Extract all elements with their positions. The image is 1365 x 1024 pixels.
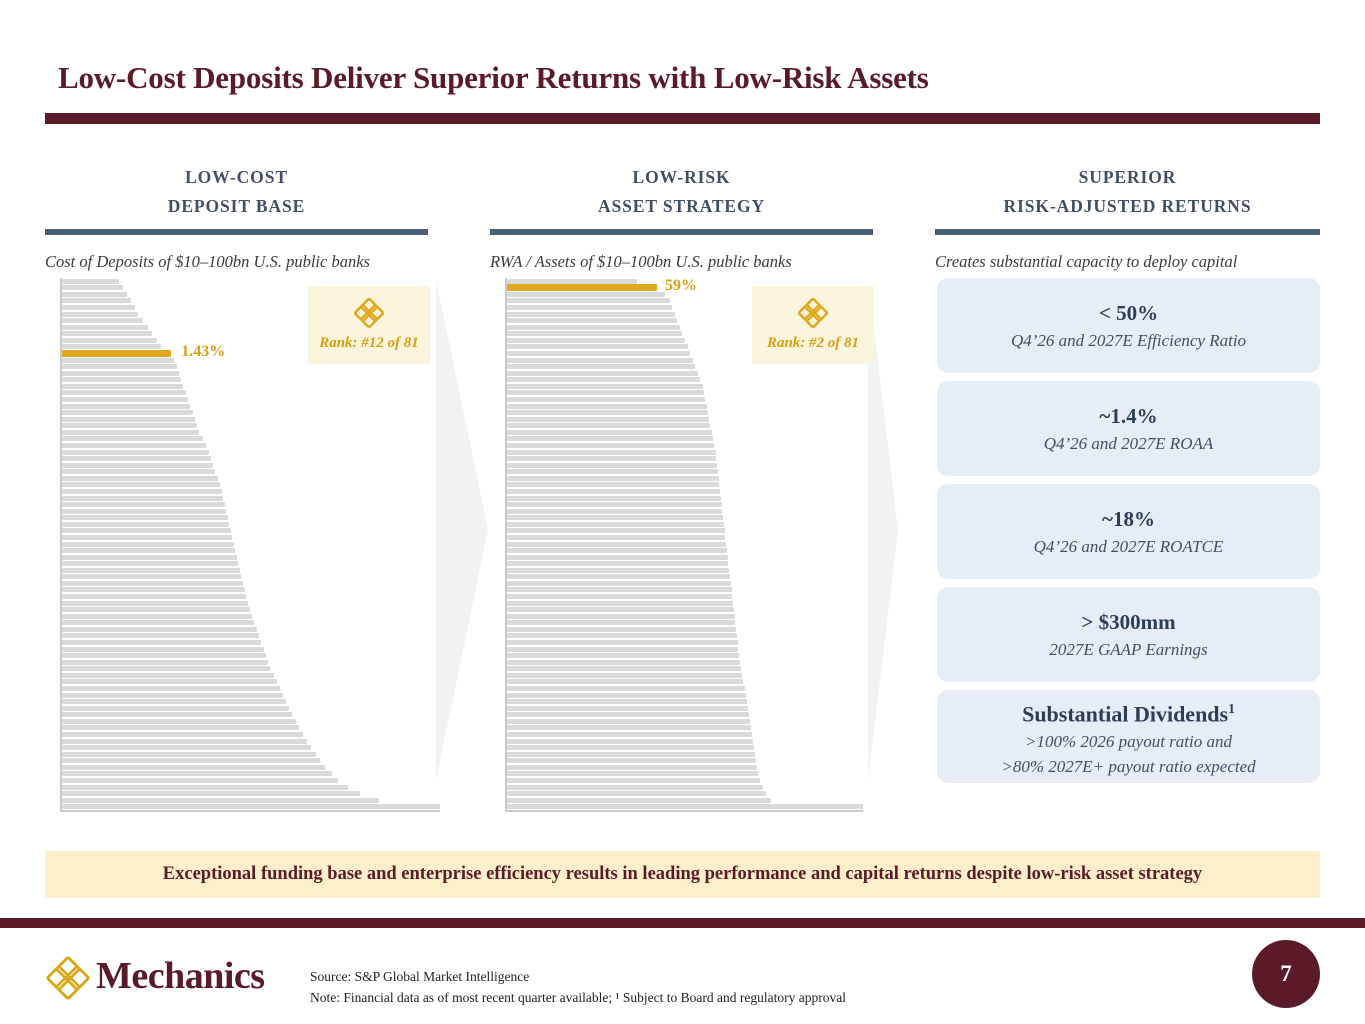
- chart-bar: [62, 358, 174, 363]
- chart-bar: [507, 745, 754, 750]
- metric-card-gaap-earnings: > $300mm 2027E GAAP Earnings: [937, 587, 1320, 682]
- chart-bar: [62, 739, 307, 744]
- chart-bar: [507, 666, 741, 671]
- chart-bar: [507, 607, 734, 612]
- column-divider: [490, 229, 873, 235]
- column-subtitle: Creates substantial capacity to deploy c…: [935, 252, 1320, 272]
- chart-bar: [507, 377, 700, 382]
- chart-bar: [507, 417, 709, 422]
- metric-value-text: Substantial Dividends: [1022, 701, 1228, 726]
- chart-bar: [62, 601, 248, 606]
- chart-bar: [62, 745, 311, 750]
- brand-wordmark: Mechanics: [96, 954, 265, 998]
- chart-bar: [507, 581, 731, 586]
- chart-bar: [62, 496, 223, 501]
- chart-bar-highlighted: [62, 350, 171, 357]
- chart-bar: [507, 443, 714, 448]
- chart-bar: [507, 712, 749, 717]
- metric-description: 2027E GAAP Earnings: [949, 637, 1308, 662]
- chart-bar: [62, 542, 234, 547]
- chart-bar: [507, 574, 730, 579]
- chart-bar: [507, 568, 729, 573]
- chart-bar: [507, 627, 736, 632]
- page-title: Low-Cost Deposits Deliver Superior Retur…: [58, 60, 929, 96]
- chart-bar: [62, 725, 299, 730]
- chart-bar: [62, 305, 135, 310]
- chart-bar: [507, 364, 695, 369]
- metric-card-roaa: ~1.4% Q4’26 and 2027E ROAA: [937, 381, 1320, 476]
- chart-bar: [507, 719, 750, 724]
- chevron-right-icon-1: [436, 280, 494, 780]
- chart-bar: [507, 351, 690, 356]
- chart-bar: [62, 686, 280, 691]
- chart-bar: [507, 785, 763, 790]
- chart-bar: [62, 581, 243, 586]
- chart-bar: [62, 791, 360, 796]
- chart-bar: [507, 587, 732, 592]
- chart-bar: [62, 666, 270, 671]
- chart-bar: [507, 673, 742, 678]
- page-number-badge: 7: [1252, 940, 1320, 1008]
- chart-bar: [62, 587, 245, 592]
- chart-bar: [62, 568, 240, 573]
- footnote-marker: 1: [1228, 701, 1235, 716]
- chart-bar: [62, 758, 320, 763]
- mechanics-knot-icon: [45, 955, 91, 1001]
- chart-bar: [62, 594, 246, 599]
- chart-bar: [62, 377, 181, 382]
- chart-bar: [62, 706, 289, 711]
- chart-bar: [507, 614, 735, 619]
- metric-value: ~18%: [949, 504, 1308, 534]
- chart-bar: [507, 679, 743, 684]
- chart-bar: [507, 397, 705, 402]
- chart-bar: [62, 785, 348, 790]
- chart-highlight-label: 59%: [665, 277, 697, 295]
- chart-bar: [62, 338, 157, 343]
- footer-divider: [0, 918, 1365, 928]
- chart-bar: [62, 450, 209, 455]
- chart-bar: [62, 312, 138, 317]
- chart-bar: [62, 482, 220, 487]
- column-divider: [45, 229, 428, 235]
- metric-description-line2: >80% 2027E+ payout ratio expected: [949, 754, 1308, 779]
- chart-bar: [62, 522, 229, 527]
- metric-value: > $300mm: [949, 607, 1308, 637]
- chart-bar: [507, 535, 725, 540]
- chart-bar: [62, 804, 440, 809]
- chart-bar: [507, 436, 713, 441]
- chart-bar: [62, 574, 241, 579]
- chart-bar: [62, 548, 235, 553]
- metric-description: Q4’26 and 2027E ROAA: [949, 431, 1308, 456]
- chart-bar: [507, 463, 717, 468]
- chart-bar: [62, 298, 131, 303]
- chart-bar: [507, 331, 682, 336]
- chart-bar: [507, 594, 732, 599]
- chart-bar: [507, 502, 722, 507]
- chart-bar: [507, 292, 665, 297]
- chart-bar: [507, 482, 719, 487]
- mechanics-knot-icon: [796, 296, 830, 330]
- metric-value: ~1.4%: [949, 401, 1308, 431]
- column-header-low-risk: LOW-RISK ASSET STRATEGY RWA / Assets of …: [490, 163, 873, 272]
- chart-bar: [62, 469, 215, 474]
- summary-banner: Exceptional funding base and enterprise …: [45, 851, 1320, 898]
- chart-bar: [62, 331, 152, 336]
- chart-bar: [62, 607, 250, 612]
- chart-bar: [62, 535, 232, 540]
- chart-bar: [507, 318, 677, 323]
- chart-bar: [507, 384, 703, 389]
- chart-highlight-label: 1.43%: [181, 343, 225, 361]
- summary-banner-text: Exceptional funding base and enterprise …: [163, 864, 1202, 885]
- disclaimer-note: Note: Financial data as of most recent q…: [310, 987, 846, 1008]
- chart-bar: [507, 325, 680, 330]
- chart-bar: [507, 706, 748, 711]
- rank-badge-deposits: Rank: #12 of 81: [308, 286, 430, 364]
- metric-card-efficiency-ratio: < 50% Q4’26 and 2027E Efficiency Ratio: [937, 278, 1320, 373]
- chart-bar: [62, 614, 252, 619]
- chart-bar: [62, 627, 257, 632]
- chart-bar: [507, 732, 752, 737]
- chart-bar: [507, 798, 771, 803]
- chart-bar: [62, 285, 123, 290]
- chart-bar: [507, 509, 722, 514]
- metric-value: Substantial Dividends1: [949, 694, 1308, 729]
- column-heading-line1: LOW-RISK: [490, 163, 873, 192]
- chart-bar: [507, 791, 766, 796]
- chart-bar: [62, 620, 254, 625]
- chart-bar: [62, 502, 225, 507]
- chart-bar: [62, 555, 237, 560]
- chart-bar: [62, 456, 211, 461]
- chart-bar: [62, 417, 195, 422]
- column-subtitle: RWA / Assets of $10–100bn U.S. public ba…: [490, 252, 873, 272]
- column-heading-line1: LOW-COST: [45, 163, 428, 192]
- metric-card-dividends: Substantial Dividends1 >100% 2026 payout…: [937, 690, 1320, 783]
- chart-bar: [507, 548, 727, 553]
- chart-bar: [507, 633, 737, 638]
- chart-bar: [62, 660, 268, 665]
- chart-bar: [62, 509, 226, 514]
- chart-bar: [507, 450, 716, 455]
- chart-bar: [62, 515, 228, 520]
- title-divider: [45, 113, 1320, 124]
- chart-bar: [507, 496, 721, 501]
- chart-bar: [62, 436, 203, 441]
- chart-bar: [507, 739, 753, 744]
- column-heading-line2: ASSET STRATEGY: [490, 192, 873, 221]
- chart-bar: [62, 712, 292, 717]
- chart-bar: [62, 325, 148, 330]
- chart-bar: [62, 476, 218, 481]
- chart-bar: [507, 404, 707, 409]
- chart-bar: [507, 765, 757, 770]
- column-header-superior-returns: SUPERIOR RISK-ADJUSTED RETURNS Creates s…: [935, 163, 1320, 272]
- chart-bar: [62, 344, 161, 349]
- column-heading-line2: RISK-ADJUSTED RETURNS: [935, 192, 1320, 221]
- chart-bar: [62, 463, 213, 468]
- rank-badge-text: Rank: #2 of 81: [767, 335, 859, 352]
- metric-description: >100% 2026 payout ratio and: [949, 729, 1308, 754]
- chart-bar: [62, 633, 259, 638]
- chart-bar: [507, 647, 738, 652]
- chart-bar: [62, 279, 119, 284]
- chart-bar: [62, 561, 238, 566]
- chart-bar: [507, 515, 723, 520]
- chart-bar: [507, 371, 698, 376]
- chart-bar: [507, 640, 738, 645]
- chart-bar: [507, 752, 755, 757]
- column-header-low-cost: LOW-COST DEPOSIT BASE Cost of Deposits o…: [45, 163, 428, 272]
- chart-bar: [62, 489, 222, 494]
- chart-bar: [507, 476, 719, 481]
- chart-bar: [507, 653, 739, 658]
- chart-bar: [62, 410, 193, 415]
- chart-bar: [62, 765, 325, 770]
- footnotes: Source: S&P Global Market Intelligence N…: [310, 966, 846, 1008]
- chart-bar: [62, 364, 177, 369]
- chart-bar: [507, 804, 863, 809]
- chart-bar: [507, 489, 720, 494]
- chart-bar: [62, 798, 379, 803]
- slide-root: Low-Cost Deposits Deliver Superior Retur…: [0, 0, 1365, 1024]
- chart-bar: [507, 522, 724, 527]
- chart-bar: [507, 555, 728, 560]
- chart-bar: [507, 561, 728, 566]
- chart-bar: [507, 410, 708, 415]
- chart-bar: [507, 528, 725, 533]
- metric-description: Q4’26 and 2027E Efficiency Ratio: [949, 328, 1308, 353]
- chart-bar: [62, 699, 286, 704]
- column-heading-line1: SUPERIOR: [935, 163, 1320, 192]
- chart-bar: [507, 344, 688, 349]
- metric-value: < 50%: [949, 298, 1308, 328]
- chart-bar: [62, 384, 183, 389]
- chart-bar: [62, 390, 186, 395]
- source-note: Source: S&P Global Market Intelligence: [310, 966, 846, 987]
- metric-card-roatce: ~18% Q4’26 and 2027E ROATCE: [937, 484, 1320, 579]
- chart-bar: [62, 640, 261, 645]
- chart-bar: [62, 719, 296, 724]
- metric-card-list: < 50% Q4’26 and 2027E Efficiency Ratio ~…: [937, 278, 1320, 791]
- chart-bar: [62, 673, 274, 678]
- chart-bar: [507, 601, 733, 606]
- rank-badge-text: Rank: #12 of 81: [319, 335, 419, 352]
- chart-bar: [507, 620, 735, 625]
- metric-description: Q4’26 and 2027E ROATCE: [949, 534, 1308, 559]
- chart-bar: [507, 771, 758, 776]
- chart-bar: [62, 318, 143, 323]
- column-divider: [935, 229, 1320, 235]
- chart-bar: [62, 292, 127, 297]
- chart-bar: [62, 647, 264, 652]
- chart-bar: [62, 752, 316, 757]
- chart-bar: [507, 298, 670, 303]
- chart-bar: [507, 358, 693, 363]
- chart-bar: [62, 732, 303, 737]
- chart-axis-baseline: [505, 810, 863, 812]
- chart-bar: [507, 778, 760, 783]
- chart-bar: [62, 778, 338, 783]
- chart-bar: [507, 686, 745, 691]
- mechanics-knot-icon: [352, 296, 386, 330]
- chart-bar: [507, 693, 746, 698]
- chart-bar: [62, 693, 283, 698]
- chart-bar: [62, 653, 266, 658]
- chart-bar: [507, 469, 718, 474]
- chart-bar: [62, 771, 332, 776]
- chart-bar: [507, 279, 637, 284]
- chart-bar: [507, 430, 712, 435]
- chevron-right-icon-2: [868, 280, 908, 780]
- chart-bar: [507, 305, 672, 310]
- chart-bar: [62, 404, 190, 409]
- chart-bar: [507, 758, 756, 763]
- chart-bar: [62, 528, 231, 533]
- chart-bar: [62, 679, 277, 684]
- chart-bar-highlighted: [507, 284, 657, 291]
- chart-bar: [62, 397, 188, 402]
- chart-bar: [507, 725, 751, 730]
- chart-bar: [507, 423, 710, 428]
- chart-bar: [62, 371, 179, 376]
- chart-bar: [507, 660, 740, 665]
- chart-bar: [507, 312, 675, 317]
- chart-bar: [507, 542, 726, 547]
- chart-bar: [507, 456, 716, 461]
- column-subtitle: Cost of Deposits of $10–100bn U.S. publi…: [45, 252, 428, 272]
- rank-badge-rwa: Rank: #2 of 81: [752, 286, 874, 364]
- chart-bar: [507, 699, 747, 704]
- chart-bar: [62, 443, 206, 448]
- chart-bar: [62, 423, 197, 428]
- chart-bar: [507, 338, 685, 343]
- chart-bar: [62, 430, 199, 435]
- column-heading-line2: DEPOSIT BASE: [45, 192, 428, 221]
- chart-axis-baseline: [60, 810, 440, 812]
- chart-bar: [507, 390, 704, 395]
